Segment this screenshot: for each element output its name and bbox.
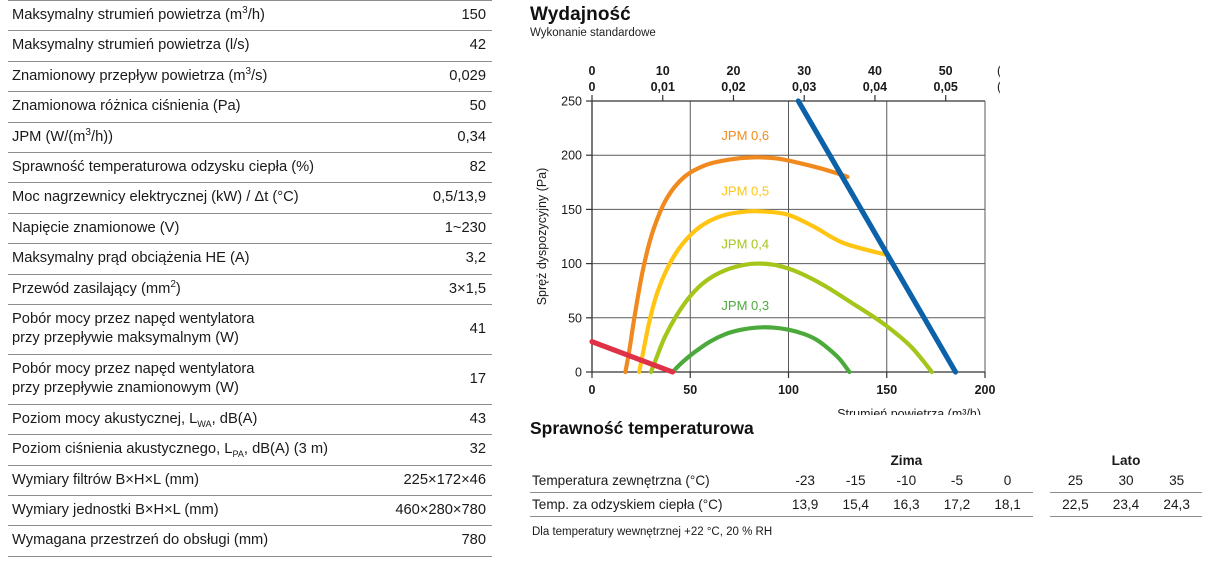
spec-value: 50 <box>377 92 492 122</box>
top-axis-ls-label: 10 <box>656 64 670 78</box>
spec-label: Przewód zasilający (mm2) <box>8 274 377 304</box>
temperature-cell-winter: -23 <box>780 469 831 493</box>
curve-label: JPM 0,3 <box>721 298 769 313</box>
outside-temp-row: Temperatura zewnętrzna (°C)-23-15-10-502… <box>530 469 1202 493</box>
temperature-efficiency-section: Sprawność temperaturowa Zima Lato <box>530 418 1207 538</box>
group-gap-header <box>1033 449 1050 469</box>
x-axis-tick-label: 100 <box>778 383 799 397</box>
spec-value: 460×280×780 <box>377 495 492 525</box>
spec-value: 41 <box>377 305 492 355</box>
spec-label: Wymiary jednostki B×H×L (mm) <box>8 495 377 525</box>
spec-label: Maksymalny strumień powietrza (m3/h) <box>8 1 377 31</box>
table-row: Maksymalny strumień powietrza (m3/h)150 <box>8 1 492 31</box>
y-axis-tick-label: 50 <box>568 311 582 325</box>
top-axis-ls-label: 30 <box>797 64 811 78</box>
curve-label: JPM 0,4 <box>721 236 769 251</box>
spec-label: Znamionowa różnica ciśnienia (Pa) <box>8 92 377 122</box>
temperature-efficiency-table: Zima Lato Temperatura zewnętrzna (°C)-23… <box>530 449 1202 517</box>
summer-group-label: Lato <box>1101 449 1152 469</box>
spec-label: Pobór mocy przez napęd wentylatoraprzy p… <box>8 305 377 355</box>
table-row: Masa (kg)29 <box>8 556 492 564</box>
top-axis-m3s-label: 0,05 <box>934 80 958 94</box>
table-row: Maksymalny prąd obciążenia HE (A)3,2 <box>8 244 492 274</box>
temperature-cell-winter: -10 <box>881 469 932 493</box>
temperature-table-head: Zima Lato <box>530 449 1202 469</box>
temperature-cell-winter: -15 <box>830 469 881 493</box>
top-axis-ls-label: 0 <box>589 64 596 78</box>
top-axis-m3s-label: 0,03 <box>792 80 816 94</box>
spec-value: 1~230 <box>377 213 492 243</box>
summer-group-pad-1 <box>1050 449 1101 469</box>
top-axis-m3s-label: 0,04 <box>863 80 887 94</box>
y-axis-tick-label: 0 <box>575 366 582 380</box>
temperature-cell-summer: 22,5 <box>1050 493 1101 517</box>
spec-label: Moc nagrzewnicy elektrycznej (kW) / Δt (… <box>8 183 377 213</box>
x-axis-tick-label: 150 <box>876 383 897 397</box>
spec-label: JPM (W/(m3/h)) <box>8 122 377 152</box>
temperature-group-header-row: Zima Lato <box>530 449 1202 469</box>
winter-group-pad-2 <box>830 449 881 469</box>
recovered-temp-row: Temp. za odzyskiem ciepła (°C)13,915,416… <box>530 493 1202 517</box>
spec-value: 225×172×46 <box>377 465 492 495</box>
y-axis-tick-label: 250 <box>561 95 582 109</box>
top-axis-m3s-label: 0,01 <box>651 80 675 94</box>
spec-label: Poziom ciśnienia akustycznego, LPA, dB(A… <box>8 435 377 465</box>
temperature-cell-summer: 24,3 <box>1151 493 1202 517</box>
performance-title: Wydajność <box>530 4 656 26</box>
performance-chart-svg: 05010015020025005010015020000100,01200,0… <box>530 60 1000 415</box>
table-row: Sprawność temperaturowa odzysku ciepła (… <box>8 153 492 183</box>
temperature-cell-winter: 17,2 <box>932 493 983 517</box>
spec-label: Pobór mocy przez napęd wentylatoraprzy p… <box>8 354 377 404</box>
spec-value: 3,2 <box>377 244 492 274</box>
table-row: Poziom ciśnienia akustycznego, LPA, dB(A… <box>8 435 492 465</box>
temperature-row-label: Temperatura zewnętrzna (°C) <box>530 469 780 493</box>
spec-label: Maksymalny prąd obciążenia HE (A) <box>8 244 377 274</box>
curve-jpm-0-5 <box>639 211 887 372</box>
summer-group-pad-2 <box>1151 449 1202 469</box>
top-axis-ls-label: 40 <box>868 64 882 78</box>
winter-group-pad-1 <box>780 449 831 469</box>
top-axis-ls-label: 20 <box>727 64 741 78</box>
temperature-cell-winter: 18,1 <box>982 493 1033 517</box>
specifications-table-body: Maksymalny strumień powietrza (m3/h)150M… <box>8 1 492 564</box>
spec-label: Maksymalny strumień powietrza (l/s) <box>8 31 377 61</box>
curve-label: JPM 0,5 <box>721 183 769 198</box>
temperature-cell-winter: 13,9 <box>780 493 831 517</box>
spec-label: Poziom mocy akustycznej, LWA, dB(A) <box>8 404 377 434</box>
spec-label: Wymiary filtrów B×H×L (mm) <box>8 465 377 495</box>
performance-subtitle: Wykonanie standardowe <box>530 27 656 39</box>
spec-value: 17 <box>377 354 492 404</box>
x-axis-tick-label: 200 <box>975 383 996 397</box>
performance-chart: 05010015020025005010015020000100,01200,0… <box>530 60 1000 415</box>
winter-group-pad-4 <box>982 449 1033 469</box>
spec-value: 0,5/13,9 <box>377 183 492 213</box>
temperature-cell-summer: 35 <box>1151 469 1202 493</box>
top-axis-m3s-label: 0 <box>589 80 596 94</box>
table-row: Wymiary filtrów B×H×L (mm)225×172×46 <box>8 465 492 495</box>
spec-label: Sprawność temperaturowa odzysku ciepła (… <box>8 153 377 183</box>
table-row: Maksymalny strumień powietrza (l/s)42 <box>8 31 492 61</box>
x-axis-tick-label: 50 <box>683 383 697 397</box>
x-axis-title: Strumień powietrza (m³/h) <box>837 407 981 415</box>
spec-value: 0,34 <box>377 122 492 152</box>
temperature-cell-winter: 0 <box>982 469 1033 493</box>
y-axis-tick-label: 200 <box>561 149 582 163</box>
spec-value: 43 <box>377 404 492 434</box>
right-column: Wydajność Wykonanie standardowe 05010015… <box>530 0 1207 564</box>
table-row: Przewód zasilający (mm2)3×1,5 <box>8 274 492 304</box>
table-row: Wymagana przestrzeń do obsługi (mm)780 <box>8 526 492 556</box>
table-row: Znamionowa różnica ciśnienia (Pa)50 <box>8 92 492 122</box>
curve-jpm-0-3 <box>673 327 850 372</box>
table-row: Moc nagrzewnicy elektrycznej (kW) / Δt (… <box>8 183 492 213</box>
table-row: Pobór mocy przez napęd wentylatoraprzy p… <box>8 354 492 404</box>
y-axis-tick-label: 100 <box>561 257 582 271</box>
datasheet-page: Maksymalny strumień powietrza (m3/h)150M… <box>0 0 1207 564</box>
table-row: JPM (W/(m3/h))0,34 <box>8 122 492 152</box>
spec-value: 3×1,5 <box>377 274 492 304</box>
temperature-note: Dla temperatury wewnętrznej +22 °C, 20 %… <box>530 526 1207 538</box>
temperature-row-label: Temp. za odzyskiem ciepła (°C) <box>530 493 780 517</box>
top-axis-ls-unit: (l/s) <box>997 64 1000 78</box>
temperature-cell-winter: 15,4 <box>830 493 881 517</box>
spec-label: Znamionowy przepływ powietrza (m3/s) <box>8 61 377 91</box>
table-row: Wymiary jednostki B×H×L (mm)460×280×780 <box>8 495 492 525</box>
temperature-cell-winter: -5 <box>932 469 983 493</box>
spec-value: 82 <box>377 153 492 183</box>
table-row: Znamionowy przepływ powietrza (m3/s)0,02… <box>8 61 492 91</box>
specifications-table: Maksymalny strumień powietrza (m3/h)150M… <box>8 0 492 564</box>
temperature-cell-summer: 25 <box>1050 469 1101 493</box>
temperature-group-gap <box>1033 469 1050 493</box>
spec-value: 0,029 <box>377 61 492 91</box>
table-row: Pobór mocy przez napęd wentylatoraprzy p… <box>8 305 492 355</box>
performance-header: Wydajność Wykonanie standardowe <box>530 4 656 39</box>
winter-group-pad-3 <box>932 449 983 469</box>
y-axis-title: Spręż dyspozycyjny (Pa) <box>535 168 549 306</box>
x-axis-tick-label: 0 <box>589 383 596 397</box>
temperature-efficiency-title: Sprawność temperaturowa <box>530 418 1207 439</box>
spec-label: Masa (kg) <box>8 556 377 564</box>
top-axis-ls-label: 50 <box>939 64 953 78</box>
spec-value: 42 <box>377 31 492 61</box>
temperature-table-body: Temperatura zewnętrzna (°C)-23-15-10-502… <box>530 469 1202 517</box>
spec-label: Napięcie znamionowe (V) <box>8 213 377 243</box>
spec-label: Wymagana przestrzeń do obsługi (mm) <box>8 526 377 556</box>
top-axis-m3s-unit: (m³/s) <box>997 80 1000 94</box>
temperature-cell-summer: 30 <box>1101 469 1152 493</box>
spec-value: 29 <box>377 556 492 564</box>
spec-value: 32 <box>377 435 492 465</box>
table-row: Poziom mocy akustycznej, LWA, dB(A)43 <box>8 404 492 434</box>
top-axis-m3s-label: 0,02 <box>721 80 745 94</box>
spec-value: 150 <box>377 1 492 31</box>
winter-group-label: Zima <box>881 449 932 469</box>
curve-label: JPM 0,6 <box>721 128 769 143</box>
spec-value: 780 <box>377 526 492 556</box>
temperature-group-gap <box>1033 493 1050 517</box>
temperature-group-spacer <box>530 449 780 469</box>
temperature-cell-summer: 23,4 <box>1101 493 1152 517</box>
y-axis-tick-label: 150 <box>561 203 582 217</box>
table-row: Napięcie znamionowe (V)1~230 <box>8 213 492 243</box>
curve-max-speed-limit-line <box>798 101 955 372</box>
temperature-cell-winter: 16,3 <box>881 493 932 517</box>
